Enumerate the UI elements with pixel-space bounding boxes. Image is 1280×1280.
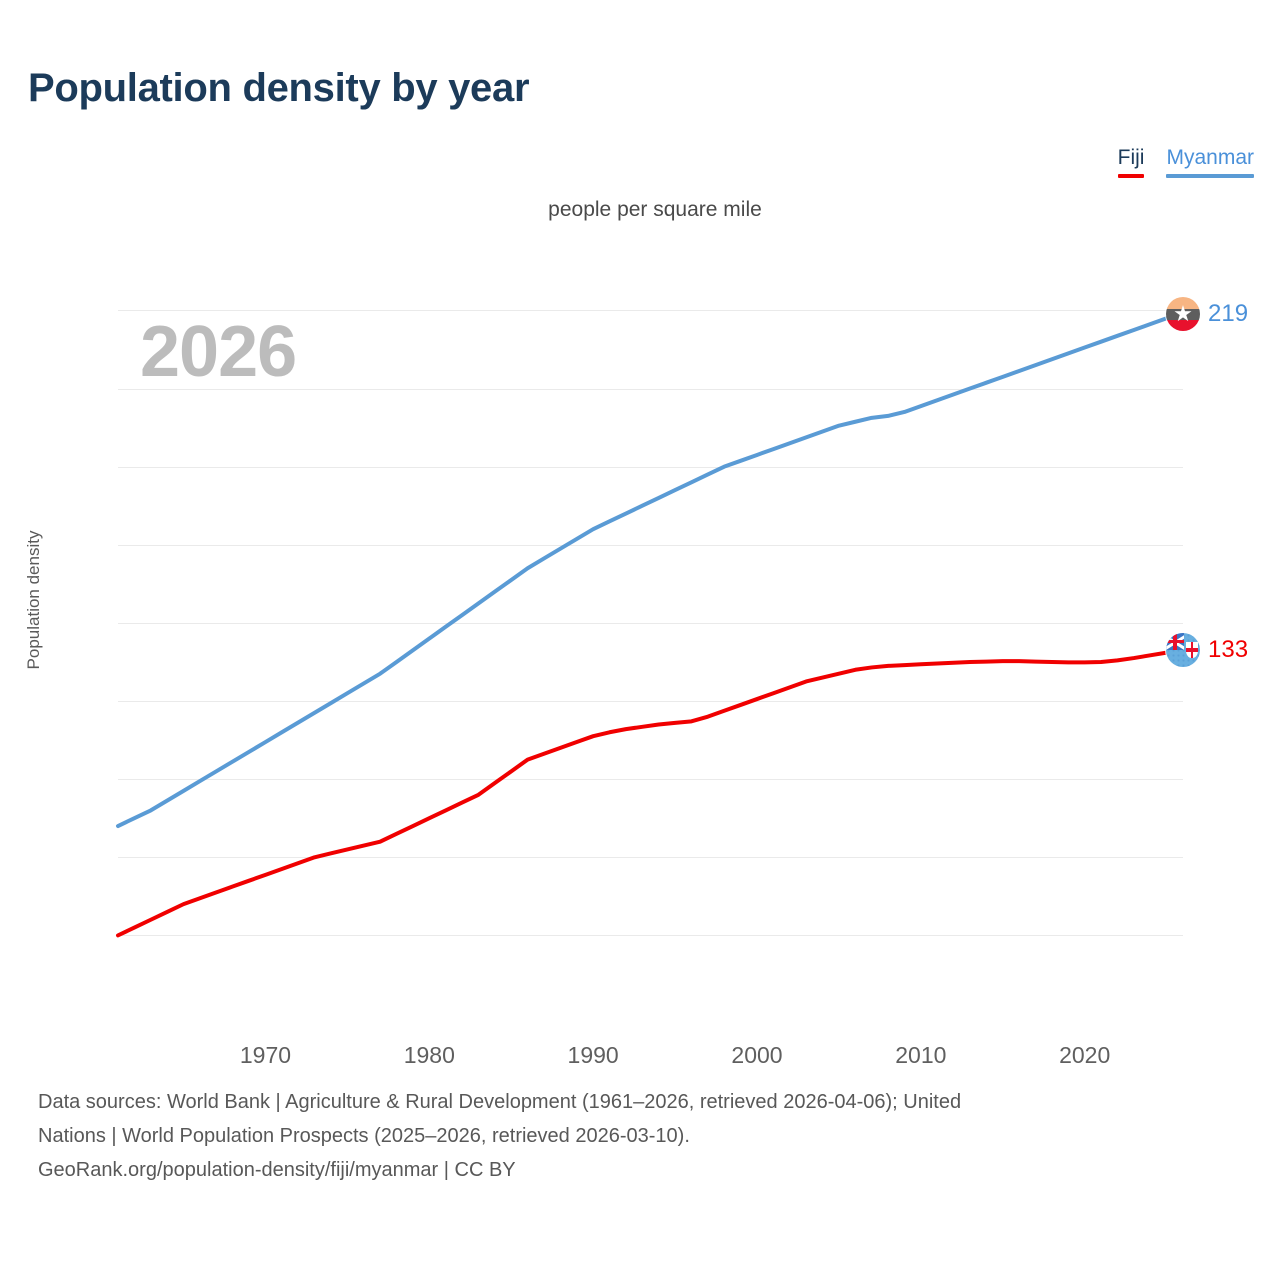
- legend-label-myanmar: Myanmar: [1166, 146, 1254, 170]
- legend-item-fiji[interactable]: Fiji: [1118, 146, 1145, 178]
- x-tick-label: 1970: [240, 1042, 291, 1069]
- legend: Fiji Myanmar: [1118, 146, 1254, 178]
- myanmar-flag-icon: ★: [1166, 297, 1200, 331]
- legend-swatch-fiji: [1118, 174, 1145, 178]
- plot-canvas: 6080100120140160180200220 19701980199020…: [118, 287, 1183, 951]
- x-tick-label: 2010: [895, 1042, 946, 1069]
- x-tick-label: 1990: [568, 1042, 619, 1069]
- endpoint-value-myanmar: 219: [1208, 300, 1248, 328]
- fiji-flag-icon: [1166, 633, 1200, 667]
- endpoint-fiji[interactable]: 133: [1166, 633, 1248, 667]
- chart-subtitle: people per square mile: [0, 198, 1280, 222]
- chart-page: Population density by year Fiji Myanmar …: [0, 0, 1280, 1280]
- page-title: Population density by year: [28, 66, 529, 111]
- footer-line-1: Data sources: World Bank | Agriculture &…: [38, 1085, 1248, 1119]
- x-tick-label: 2020: [1059, 1042, 1110, 1069]
- plot-area: Population density 608010012014016018020…: [0, 250, 1280, 1060]
- endpoint-value-fiji: 133: [1208, 636, 1248, 664]
- legend-swatch-myanmar: [1166, 174, 1254, 178]
- line-fiji: [118, 650, 1183, 935]
- y-axis-title: Population density: [24, 500, 44, 700]
- x-tick-label: 1980: [404, 1042, 455, 1069]
- footer-sources: Data sources: World Bank | Agriculture &…: [38, 1085, 1248, 1187]
- series-lines: [118, 287, 1183, 951]
- legend-label-fiji: Fiji: [1118, 146, 1145, 170]
- x-tick-label: 2000: [731, 1042, 782, 1069]
- footer-line-2: Nations | World Population Prospects (20…: [38, 1119, 1248, 1153]
- line-myanmar: [118, 314, 1183, 826]
- legend-item-myanmar[interactable]: Myanmar: [1166, 146, 1254, 178]
- endpoint-myanmar[interactable]: ★ 219: [1166, 297, 1248, 331]
- footer-line-3: GeoRank.org/population-density/fiji/myan…: [38, 1153, 1248, 1187]
